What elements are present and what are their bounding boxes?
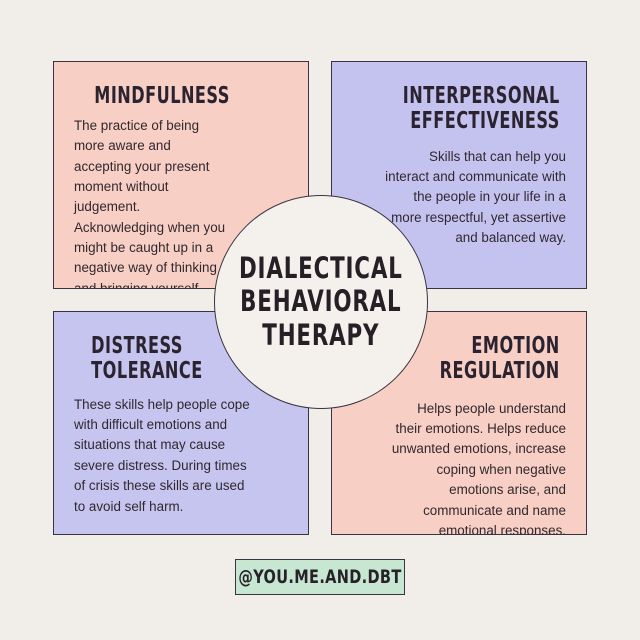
handle-text: @YOU.ME.AND.DBT	[238, 566, 401, 588]
quadrant-title-emotion-regulation: EMOTION REGULATION	[399, 334, 566, 384]
quadrant-title-distress-tolerance: DISTRESS TOLERANCE	[74, 334, 241, 384]
center-circle: DIALECTICAL BEHAVIORAL THERAPY	[214, 195, 428, 409]
quadrant-body-emotion-regulation: Helps people understand their emotions. …	[352, 391, 566, 535]
handle-badge: @YOU.ME.AND.DBT	[235, 559, 405, 595]
quadrant-title-mindfulness: MINDFULNESS	[74, 84, 241, 109]
dbt-infographic: MINDFULNESS The practice of being more a…	[0, 0, 640, 640]
quadrant-body-distress-tolerance: These skills help people cope with diffi…	[74, 391, 288, 517]
center-title: DIALECTICAL BEHAVIORAL THERAPY	[239, 252, 403, 353]
quadrant-title-interpersonal-effectiveness: INTERPERSONAL EFFECTIVENESS	[399, 84, 566, 134]
